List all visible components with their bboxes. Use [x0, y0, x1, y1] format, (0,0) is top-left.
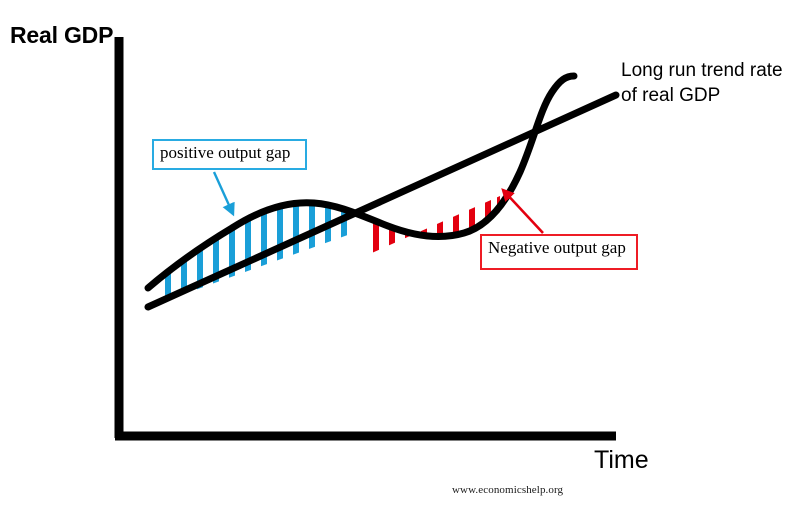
- positive-output-gap-callout: positive output gap: [152, 139, 307, 170]
- negative-output-gap-callout-label: Negative output gap: [488, 238, 626, 258]
- negative-output-gap-callout: Negative output gap: [480, 234, 638, 270]
- long-run-trend-annotation-line1: Long run trend rate: [621, 60, 783, 81]
- long-run-trend-annotation-line2: of real GDP: [621, 83, 783, 108]
- long-run-trend-line: [148, 95, 616, 307]
- positive-gap-arrow: [214, 172, 233, 214]
- watermark: www.economicshelp.org: [452, 484, 563, 496]
- long-run-trend-annotation: Long run trend rateof real GDP: [621, 58, 783, 108]
- negative-gap-arrow: [503, 190, 543, 233]
- positive-output-gap-callout-label: positive output gap: [160, 143, 290, 163]
- y-axis-title: Real GDP: [10, 22, 113, 49]
- x-axis-title: Time: [594, 446, 649, 475]
- output-gap-diagram: Real GDP Time Long run trend rateof real…: [0, 0, 800, 506]
